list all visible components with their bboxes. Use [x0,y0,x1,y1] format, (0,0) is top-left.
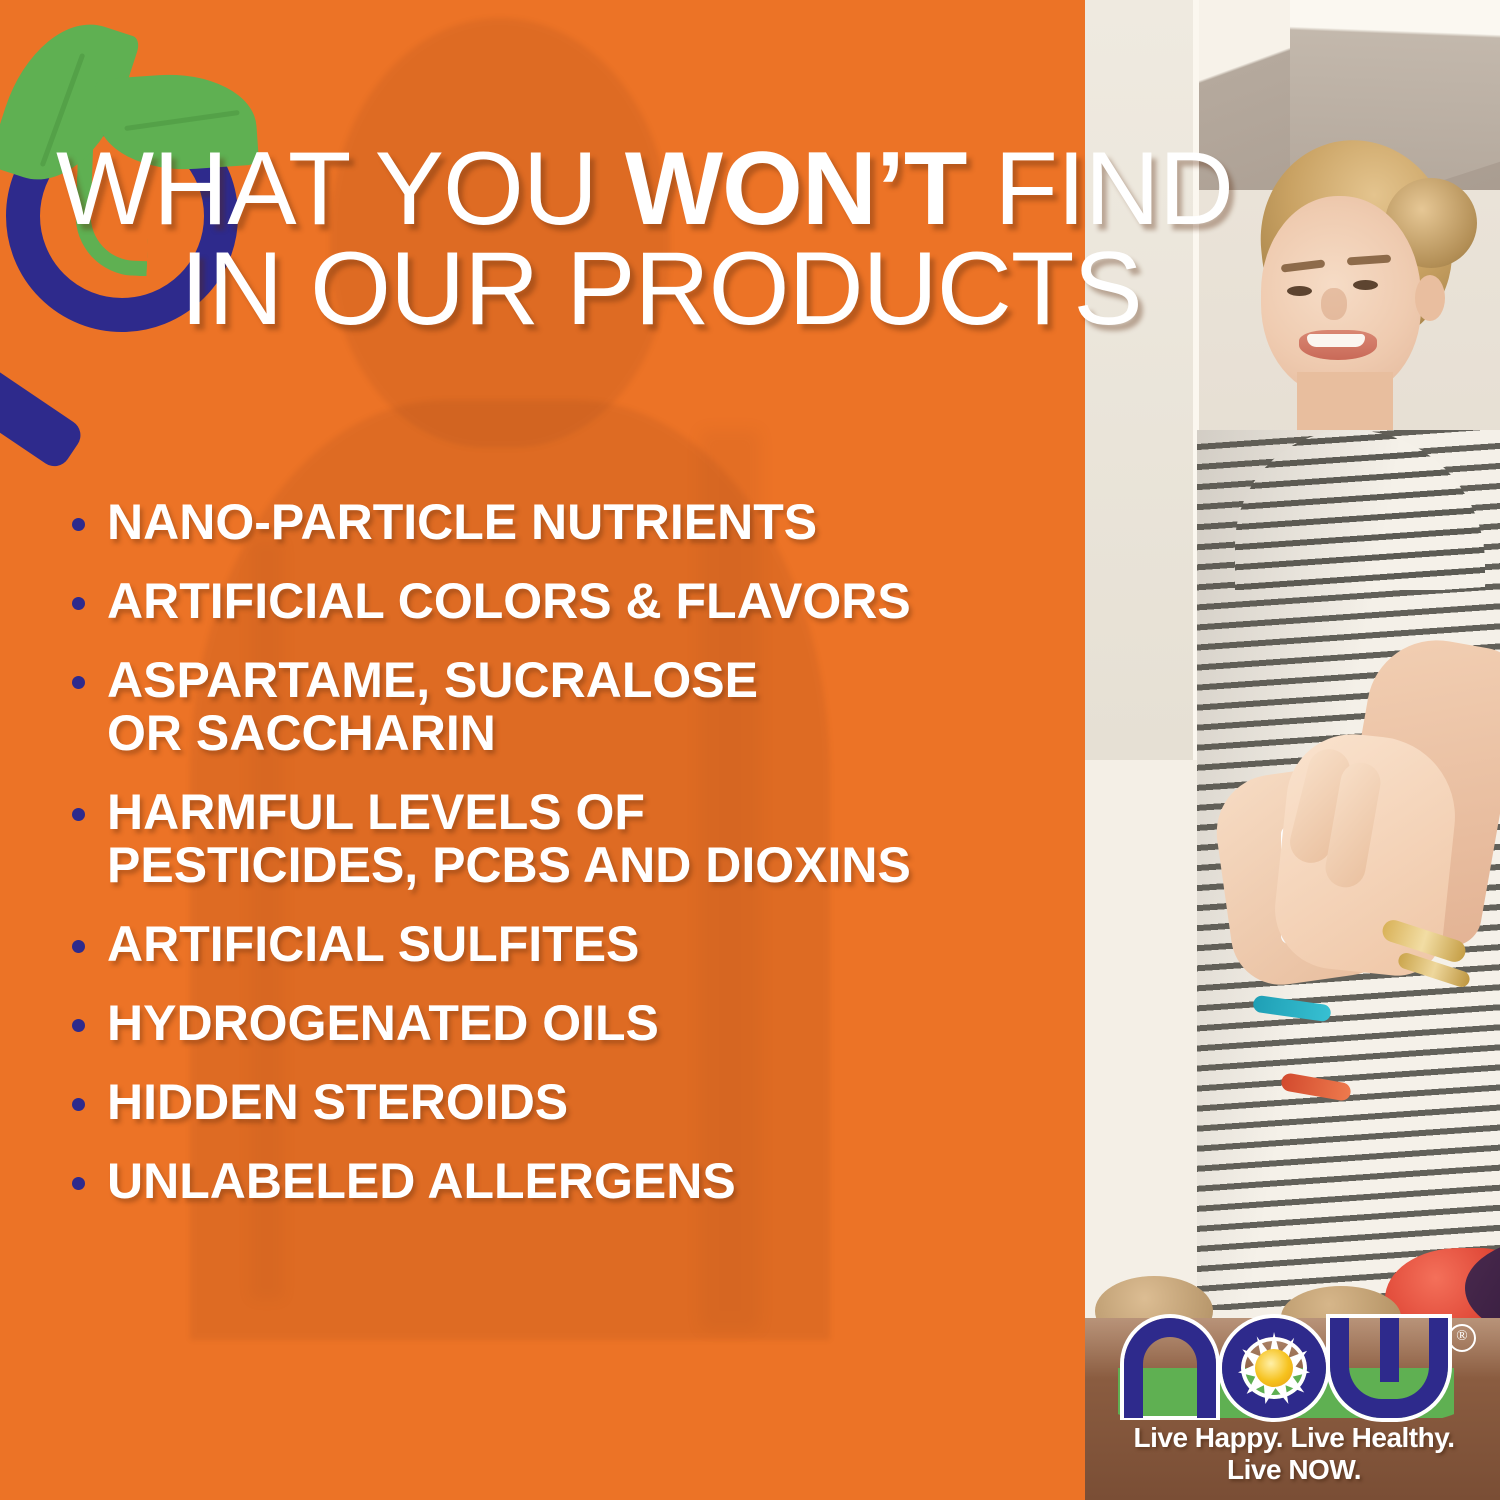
bullet-dot-icon [72,808,85,821]
list-item: ARTIFICIAL COLORS & FLAVORS [72,575,1072,628]
headline-line-1: WHAT YOU WON’T FIND [56,140,1456,240]
sunburst-core [1255,1349,1293,1387]
headline-part-2: FIND [966,131,1233,247]
bullet-dot-icon [72,597,85,610]
list-item-label: HIDDEN STEROIDS [107,1076,568,1129]
list-item: HARMFUL LEVELS OF PESTICIDES, PCBS AND D… [72,786,1072,892]
headline: WHAT YOU WON’T FIND IN OUR PRODUCTS [56,140,1456,340]
logo-wordmark: ® [1118,1310,1454,1418]
list-item-label: HYDROGENATED OILS [107,997,659,1050]
now-foods-logo: ® Live Happy. Live Healthy. Live NOW. [1118,1310,1478,1470]
sunburst-icon [1238,1332,1310,1404]
logo-w-middle-stem [1380,1318,1399,1382]
exclusion-list: NANO-PARTICLE NUTRIENTS ARTIFICIAL COLOR… [72,496,1072,1234]
list-item: HIDDEN STEROIDS [72,1076,1072,1129]
list-item: NANO-PARTICLE NUTRIENTS [72,496,1072,549]
list-item: HYDROGENATED OILS [72,997,1072,1050]
list-item: UNLABELED ALLERGENS [72,1155,1072,1208]
list-item-label: HARMFUL LEVELS OF PESTICIDES, PCBS AND D… [107,786,911,892]
headline-emphasis: WON’T [625,131,967,247]
bullet-dot-icon [72,940,85,953]
list-item-label: ARTIFICIAL SULFITES [107,918,639,971]
headline-part-1: WHAT YOU [56,131,625,247]
list-item-label: NANO-PARTICLE NUTRIENTS [107,496,817,549]
bullet-dot-icon [72,1019,85,1032]
list-item-label: ARTIFICIAL COLORS & FLAVORS [107,575,911,628]
bullet-dot-icon [72,1177,85,1190]
bullet-dot-icon [72,1098,85,1111]
bullet-dot-icon [72,518,85,531]
bullet-dot-icon [72,676,85,689]
registered-trademark-icon: ® [1448,1324,1476,1352]
logo-n-stem-right [1197,1370,1216,1418]
wall-left [1085,0,1197,760]
list-item-label: ASPARTAME, SUCRALOSE OR SACCHARIN [107,654,758,760]
logo-n-stem-left [1124,1370,1143,1418]
list-item: ASPARTAME, SUCRALOSE OR SACCHARIN [72,654,1072,760]
logo-tagline: Live Happy. Live Healthy. Live NOW. [1118,1422,1470,1486]
promo-poster: WHAT YOU WON’T FIND IN OUR PRODUCTS NANO… [0,0,1500,1500]
list-item-label: UNLABELED ALLERGENS [107,1155,736,1208]
headline-line-2: IN OUR PRODUCTS [56,240,1266,340]
list-item: ARTIFICIAL SULFITES [72,918,1072,971]
